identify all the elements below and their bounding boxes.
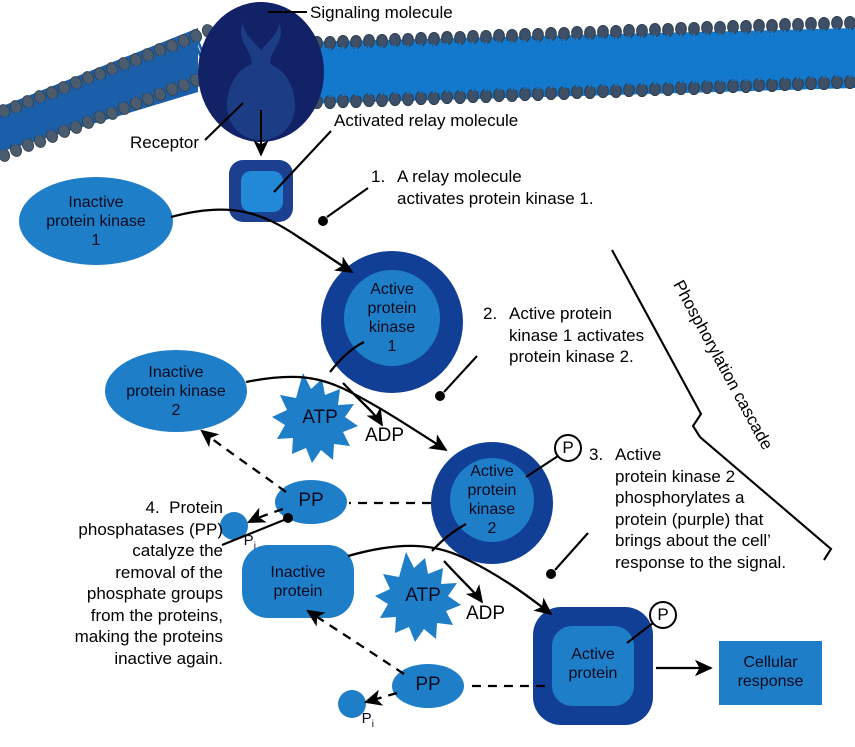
active-protein-kinase-2-label: Active protein kinase 2 [442,462,542,538]
diagram-canvas: Signaling molecule Receptor Activated re… [0,0,855,727]
active-protein-label: Active protein [538,645,648,683]
step-1: 1. A relay moleculeactivates protein kin… [371,166,594,209]
signaling-molecule-label: Signaling molecule [310,2,453,23]
activated-relay-molecule-label: Activated relay molecule [334,110,518,131]
step-2-text: Active proteinkinase 1 activatesprotein … [509,303,644,368]
step-2-number: 2. [483,303,497,325]
step-3-text: Activeprotein kinase 2phosphorylates apr… [615,444,786,573]
step-1-text: A relay moleculeactivates protein kinase… [397,166,594,209]
step-3-leader [546,533,588,579]
phosphate-subscript: i [254,541,256,552]
adp-upper-label: ADP [365,425,404,446]
step-2: 2. Active proteinkinase 1 activatesprote… [483,303,644,368]
atp-lower-label: ATP [388,586,458,605]
inactive-protein-kinase-2-label: Inactive protein kinase 2 [101,363,251,420]
step-1-leader [318,188,368,226]
phosphate-circle-kinase-2-letter: P [558,437,578,458]
step-3: 3. Activeprotein kinase 2phosphorylates … [589,444,786,573]
phosphate-circle-active-protein-letter: P [653,604,673,625]
protein-phosphatase-upper-label: PP [276,491,346,510]
inorganic-phosphate-upper-label: Pi [227,515,256,569]
inorganic-phosphate-lower-label: Pi [345,693,374,747]
protein-phosphatase-lower-label: PP [393,675,463,694]
plasma-membrane-right [299,16,855,109]
phosphate-subscript-2: i [372,719,374,730]
cellular-response-label: Cellular response [719,653,822,691]
atp-upper-label: ATP [285,408,355,427]
step-4-text: 4. Proteinphosphatases (PP)catalyze ther… [18,497,223,669]
active-protein-kinase-1-label: Active protein kinase 1 [342,280,442,356]
step-1-number: 1. [371,166,385,188]
receptor-label: Receptor [130,132,199,153]
step-3-number: 3. [589,444,603,466]
phosphate-p-letter: P [244,532,254,549]
inactive-protein-kinase-1-label: Inactive protein kinase 1 [21,193,171,250]
activated-relay-molecule [229,160,293,222]
adp-lower-label: ADP [466,603,505,624]
inactive-protein-label: Inactive protein [243,563,353,601]
phosphate-p-letter-2: P [362,710,372,727]
